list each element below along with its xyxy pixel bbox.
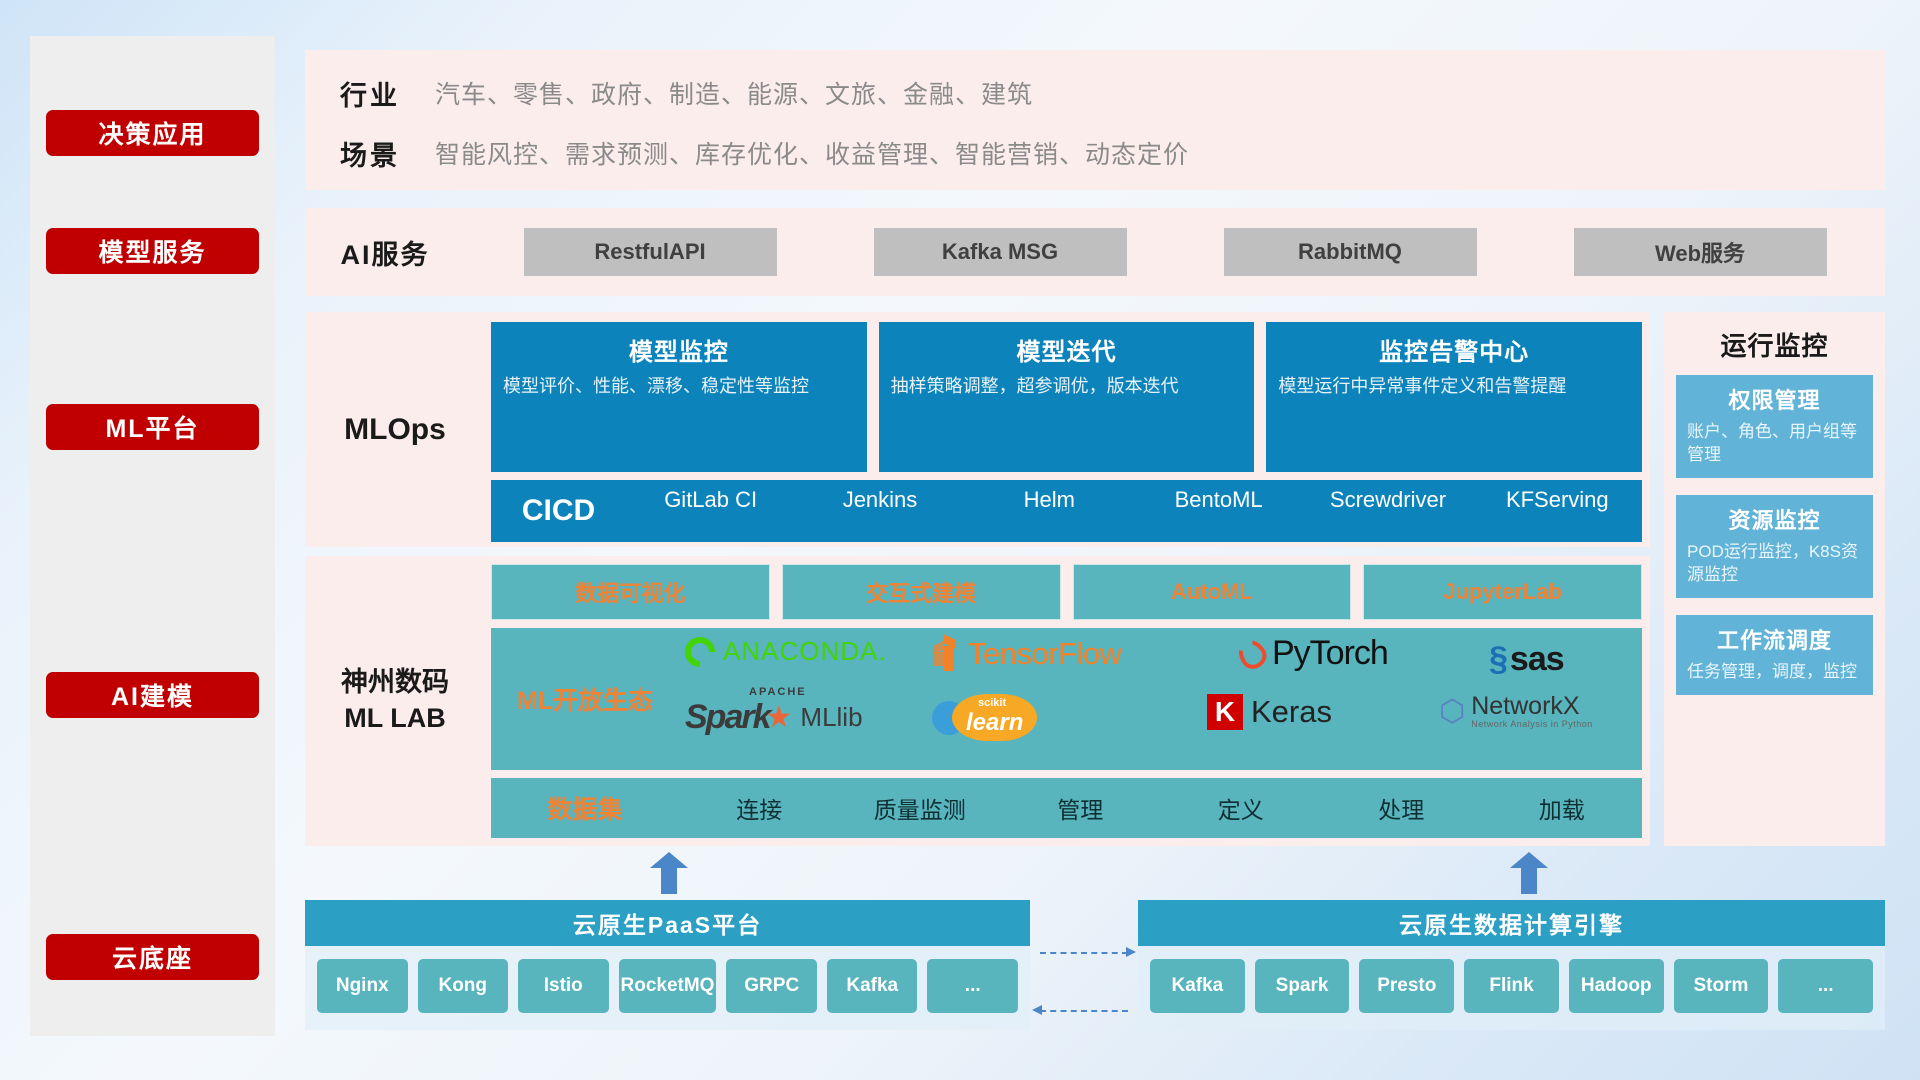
mlops-card-alert-center[interactable]: 监控告警中心 模型运行中异常事件定义和告警提醒	[1266, 322, 1642, 472]
layer-chip-ml-platform[interactable]: ML平台	[46, 404, 259, 450]
anaconda-icon: ANACONDA.	[685, 636, 887, 667]
dataset-item-load[interactable]: 加载	[1482, 791, 1643, 825]
paas-chip-nginx[interactable]: Nginx	[317, 959, 408, 1013]
dataset-item-process[interactable]: 处理	[1321, 791, 1482, 825]
paas-chip-kong[interactable]: Kong	[418, 959, 509, 1013]
cicd-item-helm[interactable]: Helm	[965, 483, 1134, 539]
ai-service-chip-web-service[interactable]: Web服务	[1574, 228, 1827, 276]
mlops-card-desc: 模型运行中异常事件定义和告警提醒	[1278, 374, 1630, 398]
dashed-arrow-right-head	[1126, 947, 1136, 957]
layer-label-column: 决策应用 模型服务 ML平台 AI建模 云底座	[30, 36, 275, 1036]
scenario-values: 智能风控、需求预测、库存优化、收益管理、智能营销、动态定价	[435, 135, 1189, 171]
pytorch-label: PyTorch	[1272, 634, 1388, 673]
dataset-item-group: 连接 质量监测 管理 定义 处理 加载	[679, 791, 1642, 825]
tensorflow-label: TensorFlow	[968, 636, 1122, 672]
mlops-card-title: 模型监控	[503, 332, 855, 367]
ml-lab-panel: 神州数码 ML LAB 数据可视化 交互式建模 AutoML JupyterLa…	[305, 556, 1650, 846]
tool-chip-interactive-modeling[interactable]: 交互式建模	[782, 564, 1061, 620]
spark-star-icon: ★	[766, 700, 793, 735]
cicd-item-jenkins[interactable]: Jenkins	[795, 483, 964, 539]
mlops-card-title: 监控告警中心	[1278, 332, 1630, 367]
ml-open-ecosystem-label: ML开放生态	[491, 681, 679, 717]
cicd-bar: CICD GitLab CI Jenkins Helm BentoML Scre…	[491, 480, 1642, 542]
cloud-native-paas-panel: 云原生PaaS平台 Nginx Kong Istio RocketMQ GRPC…	[305, 900, 1030, 1030]
mlops-card-model-monitoring[interactable]: 模型监控 模型评价、性能、漂移、稳定性等监控	[491, 322, 867, 472]
cloud-native-data-engine-title: 云原生数据计算引擎	[1138, 900, 1885, 946]
up-arrow-data-engine	[1510, 852, 1548, 894]
layer-chip-ai-modeling[interactable]: AI建模	[46, 672, 259, 718]
dataset-row: 数据集 连接 质量监测 管理 定义 处理 加载	[491, 778, 1642, 838]
spark-label: Spark	[685, 698, 770, 737]
runtime-monitoring-title: 运行监控	[1664, 312, 1885, 375]
networkx-icon: ⬡ NetworkX Network Analysis in Python	[1439, 694, 1593, 729]
decision-application-panel: 行业 汽车、零售、政府、制造、能源、文旅、金融、建筑 场景 智能风控、需求预测、…	[305, 50, 1885, 190]
monitor-card-title: 权限管理	[1687, 383, 1862, 415]
scikit-learn-blob: scikit learn	[952, 694, 1037, 741]
cicd-item-screwdriver[interactable]: Screwdriver	[1303, 483, 1472, 539]
anaconda-label: ANACONDA.	[723, 636, 887, 667]
dataset-item-manage[interactable]: 管理	[1000, 791, 1161, 825]
monitor-card-workflow[interactable]: 工作流调度 任务管理，调度，监控	[1676, 615, 1873, 695]
dataset-label: 数据集	[491, 790, 679, 826]
cicd-item-group: GitLab CI Jenkins Helm BentoML Screwdriv…	[626, 483, 1642, 539]
up-arrow-paas	[650, 852, 688, 894]
engine-chip-hadoop[interactable]: Hadoop	[1569, 959, 1664, 1013]
monitor-card-desc: 任务管理，调度，监控	[1687, 661, 1862, 684]
industry-values: 汽车、零售、政府、制造、能源、文旅、金融、建筑	[435, 75, 1033, 111]
scenario-label: 场景	[305, 134, 435, 173]
monitor-card-title: 资源监控	[1687, 503, 1862, 535]
engine-chip-presto[interactable]: Presto	[1359, 959, 1454, 1013]
mlops-card-desc: 模型评价、性能、漂移、稳定性等监控	[503, 374, 855, 398]
ml-lab-label-line1: 神州数码	[341, 665, 449, 701]
engine-chip-more[interactable]: ...	[1778, 959, 1873, 1013]
tool-chip-automl[interactable]: AutoML	[1073, 564, 1352, 620]
cloud-native-paas-chip-group: Nginx Kong Istio RocketMQ GRPC Kafka ...	[305, 946, 1030, 1026]
scikit-label: scikit	[978, 698, 1023, 709]
ml-open-ecosystem-row: ML开放生态 ANACONDA. TensorFlow	[491, 628, 1642, 770]
ai-service-label: AI服务	[305, 233, 465, 272]
mlops-card-model-iteration[interactable]: 模型迭代 抽样策略调整，超参调优，版本迭代	[879, 322, 1255, 472]
tensorflow-mark-icon	[932, 637, 962, 671]
keras-icon: K Keras	[1207, 694, 1332, 730]
monitor-card-resource[interactable]: 资源监控 POD运行监控，K8S资源监控	[1676, 495, 1873, 598]
engine-chip-spark[interactable]: Spark	[1255, 959, 1350, 1013]
tool-chip-data-visualization[interactable]: 数据可视化	[491, 564, 770, 620]
ml-lab-label: 神州数码 ML LAB	[305, 556, 485, 846]
dashed-arrow-left-head	[1032, 1005, 1042, 1015]
mllib-label: MLlib	[800, 702, 862, 733]
layer-chip-decision[interactable]: 决策应用	[46, 110, 259, 156]
runtime-monitoring-panel: 运行监控 权限管理 账户、角色、用户组等管理 资源监控 POD运行监控，K8S资…	[1664, 312, 1885, 846]
ml-lab-label-line2: ML LAB	[344, 701, 446, 737]
architecture-diagram: 决策应用 模型服务 ML平台 AI建模 云底座 行业 汽车、零售、政府、制造、能…	[0, 0, 1920, 1080]
paas-chip-istio[interactable]: Istio	[518, 959, 609, 1013]
monitor-card-desc: POD运行监控，K8S资源监控	[1687, 541, 1862, 587]
monitor-card-permission[interactable]: 权限管理 账户、角色、用户组等管理	[1676, 375, 1873, 478]
layer-chip-model-service[interactable]: 模型服务	[46, 228, 259, 274]
cloud-native-paas-title: 云原生PaaS平台	[305, 900, 1030, 946]
monitor-card-desc: 账户、角色、用户组等管理	[1687, 421, 1862, 467]
sas-icon: § sas	[1489, 640, 1564, 679]
mlops-card-desc: 抽样策略调整，超参调优，版本迭代	[891, 374, 1243, 398]
keras-label: Keras	[1251, 694, 1332, 730]
paas-chip-kafka[interactable]: Kafka	[827, 959, 918, 1013]
scenario-row: 场景 智能风控、需求预测、库存优化、收益管理、智能营销、动态定价	[305, 128, 1885, 178]
tensorflow-icon: TensorFlow	[932, 636, 1122, 672]
engine-chip-kafka[interactable]: Kafka	[1150, 959, 1245, 1013]
ai-service-chip-rabbitmq[interactable]: RabbitMQ	[1224, 228, 1477, 276]
cloud-native-data-engine-panel: 云原生数据计算引擎 Kafka Spark Presto Flink Hadoo…	[1138, 900, 1885, 1030]
cicd-item-gitlab-ci[interactable]: GitLab CI	[626, 483, 795, 539]
paas-chip-more[interactable]: ...	[927, 959, 1018, 1013]
sas-label: sas	[1510, 640, 1564, 679]
learn-label: learn	[966, 709, 1023, 737]
networkx-tagline: Network Analysis in Python	[1471, 719, 1593, 729]
dataset-item-connect[interactable]: 连接	[679, 791, 840, 825]
ml-open-ecosystem-logo-group: ANACONDA. TensorFlow PyTorch	[679, 628, 1642, 770]
ai-service-chip-restfulapi[interactable]: RestfulAPI	[524, 228, 777, 276]
engine-chip-storm[interactable]: Storm	[1674, 959, 1769, 1013]
mlops-panel: MLOps 模型监控 模型评价、性能、漂移、稳定性等监控 模型迭代 抽样策略调整…	[305, 312, 1650, 547]
cicd-title: CICD	[491, 494, 626, 528]
mlops-label: MLOps	[305, 312, 485, 547]
industry-row: 行业 汽车、零售、政府、制造、能源、文旅、金融、建筑	[305, 68, 1885, 118]
networkx-graph-icon: ⬡	[1439, 694, 1465, 729]
cloud-native-data-engine-chip-group: Kafka Spark Presto Flink Hadoop Storm ..…	[1138, 946, 1885, 1026]
pytorch-icon: PyTorch	[1239, 634, 1388, 673]
apache-label: APACHE	[749, 686, 807, 698]
dashed-arrow-right	[1040, 952, 1128, 954]
industry-label: 行业	[305, 74, 435, 113]
apache-spark-icon: APACHE Spark ★ MLlib	[685, 698, 863, 737]
ml-lab-tool-group: 数据可视化 交互式建模 AutoML JupyterLab	[491, 564, 1642, 620]
cicd-item-bentoml[interactable]: BentoML	[1134, 483, 1303, 539]
paas-chip-rocketmq[interactable]: RocketMQ	[619, 959, 717, 1013]
sas-swirl-icon: §	[1489, 640, 1508, 679]
ai-service-panel: AI服务 RestfulAPI Kafka MSG RabbitMQ Web服务	[305, 208, 1885, 296]
dashed-arrow-left	[1040, 1010, 1128, 1012]
ai-service-chip-kafka-msg[interactable]: Kafka MSG	[874, 228, 1127, 276]
keras-mark-icon: K	[1207, 694, 1243, 730]
dataset-item-quality[interactable]: 质量监测	[840, 791, 1001, 825]
mlops-card-group: 模型监控 模型评价、性能、漂移、稳定性等监控 模型迭代 抽样策略调整，超参调优，…	[491, 322, 1642, 472]
cicd-item-kfserving[interactable]: KFServing	[1473, 483, 1642, 539]
mlops-card-title: 模型迭代	[891, 332, 1243, 367]
dataset-item-define[interactable]: 定义	[1161, 791, 1322, 825]
pytorch-flame-icon	[1233, 634, 1272, 673]
ai-service-chip-group: RestfulAPI Kafka MSG RabbitMQ Web服务	[465, 228, 1885, 276]
monitor-card-title: 工作流调度	[1687, 623, 1862, 655]
anaconda-ring-icon	[679, 630, 721, 672]
tool-chip-jupyterlab[interactable]: JupyterLab	[1363, 564, 1642, 620]
engine-chip-flink[interactable]: Flink	[1464, 959, 1559, 1013]
layer-chip-cloud-base[interactable]: 云底座	[46, 934, 259, 980]
networkx-label: NetworkX	[1471, 694, 1593, 719]
scikit-learn-icon: scikit learn	[932, 694, 1037, 741]
paas-chip-grpc[interactable]: GRPC	[726, 959, 817, 1013]
